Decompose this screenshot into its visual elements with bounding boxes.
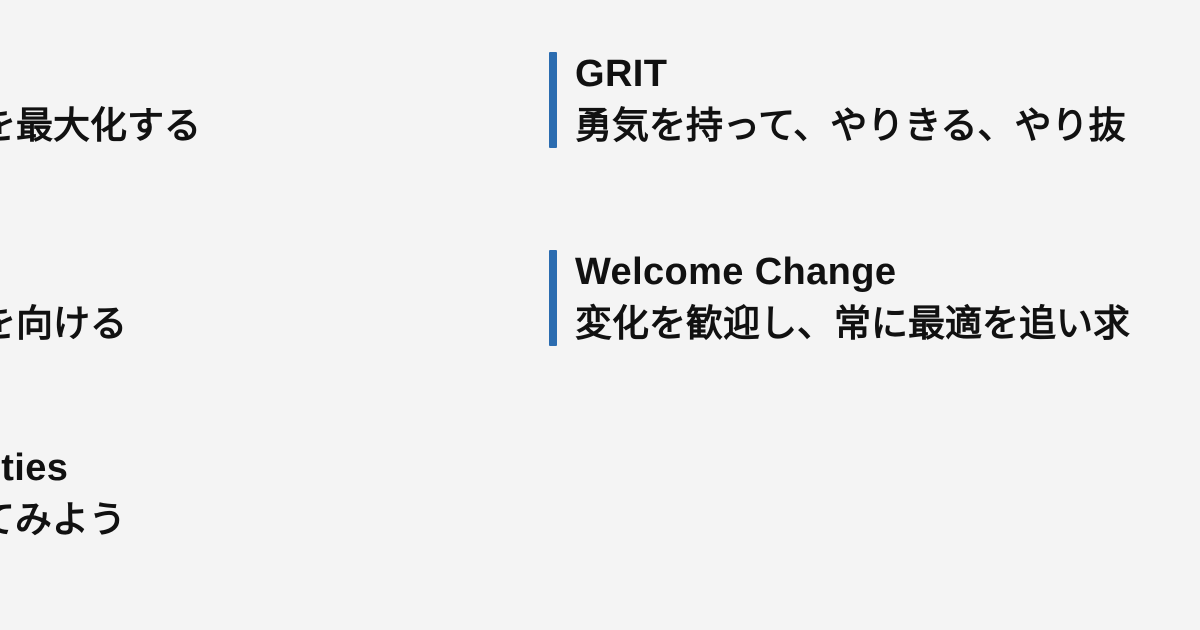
value-title: first xyxy=(0,52,201,97)
values-column-left: first 果、満足度を最大化する Driven な課題に目を向ける the P… xyxy=(0,0,408,630)
value-item: the Posibilities 理由を探してみよう xyxy=(0,446,126,542)
value-subtitle: 変化を歓迎し、常に最適を追い求 xyxy=(575,295,1130,346)
value-item: first 果、満足度を最大化する xyxy=(0,52,201,148)
value-text-group: Driven な課題に目を向ける xyxy=(0,250,127,346)
value-text-group: first 果、満足度を最大化する xyxy=(0,52,201,148)
value-text-group: the Posibilities 理由を探してみよう xyxy=(0,446,126,542)
value-item: Driven な課題に目を向ける xyxy=(0,250,127,346)
value-subtitle: 理由を探してみよう xyxy=(0,491,126,542)
value-text-group: GRIT 勇気を持って、やりきる、やり抜 xyxy=(575,52,1126,148)
value-item: Welcome Change 変化を歓迎し、常に最適を追い求 xyxy=(549,250,1130,346)
values-slide: first 果、満足度を最大化する Driven な課題に目を向ける the P… xyxy=(0,0,1200,630)
vertical-accent-bar-icon xyxy=(549,250,557,346)
value-title: Welcome Change xyxy=(575,250,1130,295)
value-subtitle: 勇気を持って、やりきる、やり抜 xyxy=(575,97,1126,148)
value-subtitle: 果、満足度を最大化する xyxy=(0,97,201,148)
vertical-accent-bar-icon xyxy=(549,52,557,148)
value-title: GRIT xyxy=(575,52,1126,97)
value-title: the Posibilities xyxy=(0,446,126,491)
value-item: GRIT 勇気を持って、やりきる、やり抜 xyxy=(549,52,1126,148)
values-column-right: GRIT 勇気を持って、やりきる、やり抜 Welcome Change 変化を歓… xyxy=(549,0,1200,630)
value-text-group: Welcome Change 変化を歓迎し、常に最適を追い求 xyxy=(575,250,1130,346)
value-subtitle: な課題に目を向ける xyxy=(0,295,127,346)
value-title: Driven xyxy=(0,250,127,295)
